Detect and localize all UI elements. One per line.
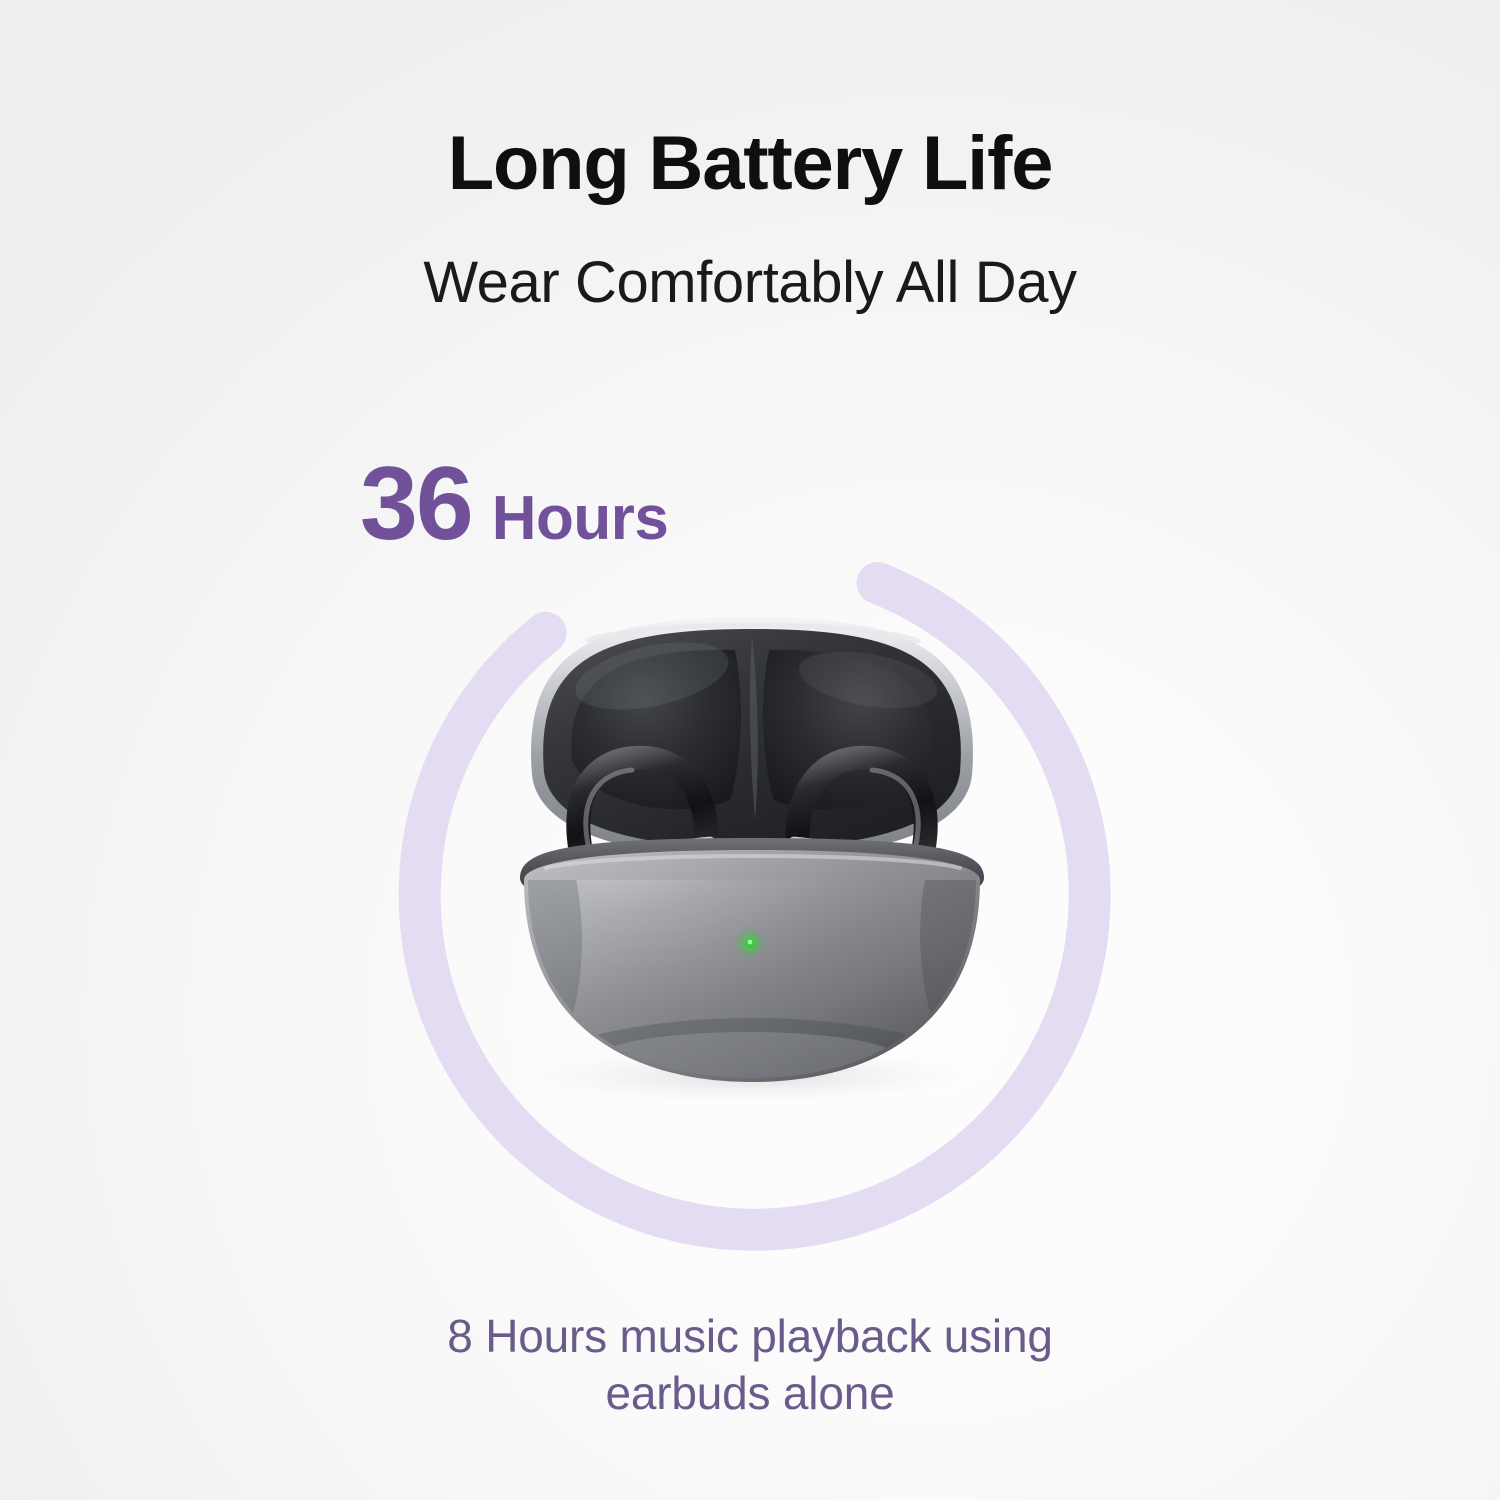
case-bowl-shade-right (920, 780, 1072, 1090)
case-bowl-shade-left (442, 790, 582, 1090)
battery-caption: 8 Hours music playback using earbuds alo… (250, 1308, 1250, 1422)
caption-line-1: 8 Hours music playback using (250, 1308, 1250, 1365)
led-core-highlight (748, 940, 753, 945)
caption-line-2: earbuds alone (250, 1365, 1250, 1422)
case-lid (531, 617, 973, 858)
marketing-banner: Long Battery Life Wear Comfortably All D… (0, 0, 1500, 1500)
product-image-earbuds-case (0, 0, 1500, 1500)
